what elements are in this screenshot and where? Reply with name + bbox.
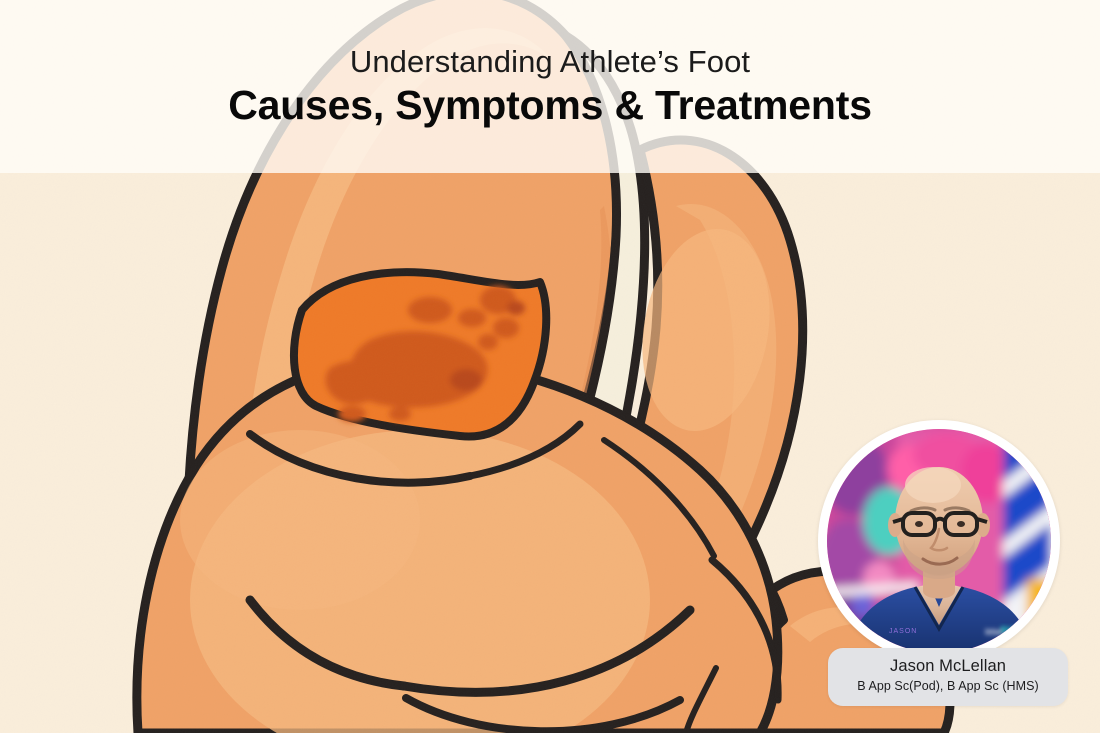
hero-title-block: Understanding Athlete’s Foot Causes, Sym… — [0, 0, 1100, 173]
hero-eyebrow: Understanding Athlete’s Foot — [350, 46, 750, 79]
page-title: Causes, Symptoms & Treatments — [228, 84, 872, 127]
author-credentials: B App Sc(Pod), B App Sc (HMS) — [828, 679, 1068, 695]
avatar-photo-svg: little BIG feet podiatry JASON — [827, 429, 1051, 653]
author-name-pill: Jason McLellan B App Sc(Pod), B App Sc (… — [828, 648, 1068, 706]
svg-text:little: little — [985, 627, 1001, 637]
blog-hero-banner: Understanding Athlete’s Foot Causes, Sym… — [0, 0, 1100, 733]
author-badge[interactable]: little BIG feet podiatry JASON — [818, 420, 1076, 695]
avatar: little BIG feet podiatry JASON — [827, 429, 1051, 653]
svg-text:JASON: JASON — [889, 628, 917, 635]
author-name: Jason McLellan — [828, 657, 1068, 677]
